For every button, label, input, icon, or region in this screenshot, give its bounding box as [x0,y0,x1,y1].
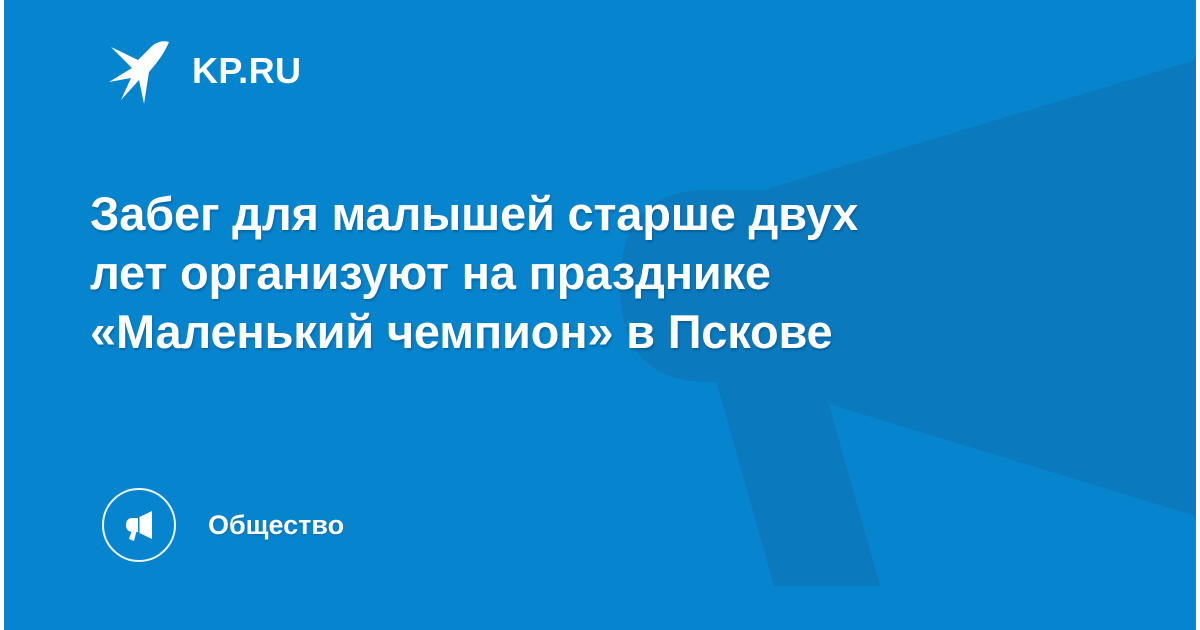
headline-line-3: «Маленький чемпион» в Пскове [90,302,1100,361]
headline-line-1: Забег для малышей старше двух [90,184,1100,243]
category-row[interactable]: Общество [102,486,344,564]
category-badge[interactable] [102,488,176,562]
megaphone-icon [119,505,159,545]
swallow-bird-icon [108,38,170,104]
site-header: KP.RU [108,34,301,108]
page-title: Забег для малышей старше двух лет органи… [90,184,1100,361]
site-wordmark: KP.RU [192,53,301,89]
headline-line-2: лет организуют на празднике [90,243,1100,302]
social-share-card: KP.RU Забег для малышей старше двух лет … [4,0,1196,630]
category-label: Общество [208,512,344,539]
